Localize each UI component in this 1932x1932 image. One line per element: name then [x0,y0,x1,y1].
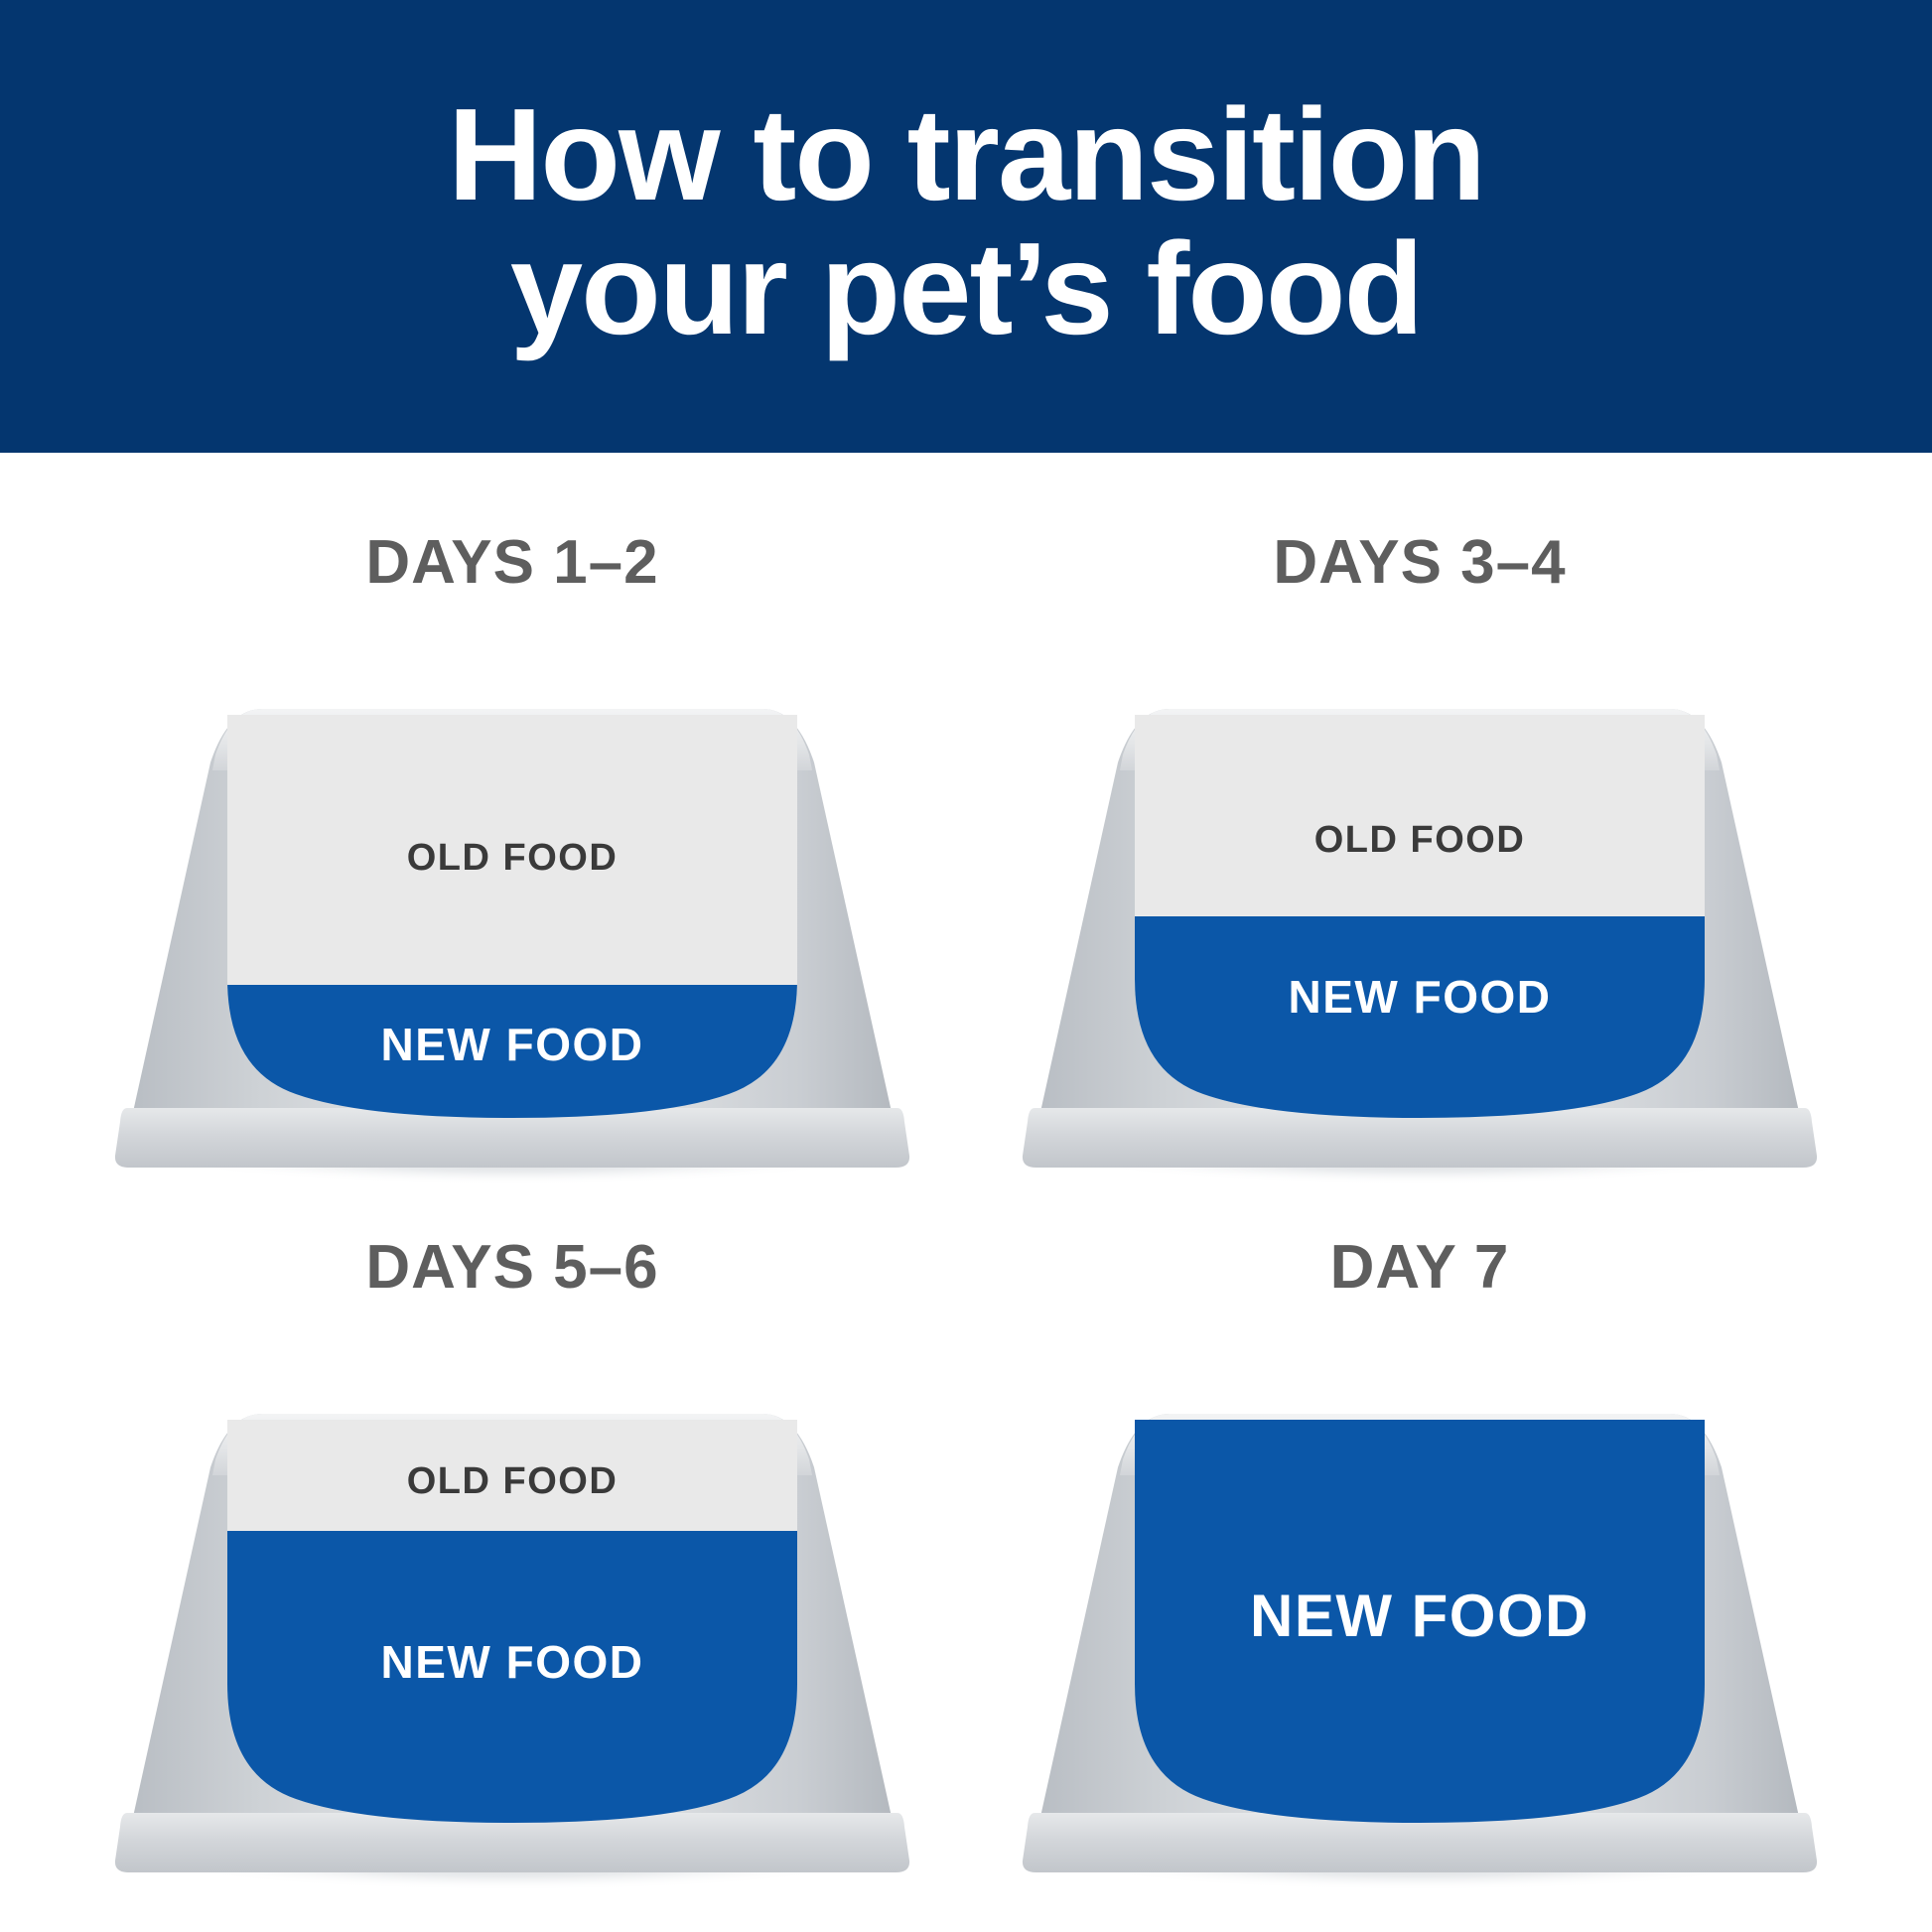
new-food-label: NEW FOOD [381,1019,644,1070]
step-panel-day-7: DAY 7 [993,1237,1847,1932]
new-food-label: NEW FOOD [381,1636,644,1688]
header-banner: How to transition your pet’s food [0,0,1932,453]
old-food-label: OLD FOOD [1314,819,1526,861]
old-food-label: OLD FOOD [407,1460,619,1502]
bowl-illustration-days-5-6: OLD FOOD NEW FOOD [85,1309,939,1924]
step-panel-days-3-4: DAYS 3–4 [993,532,1847,1227]
steps-grid: DAYS 1–2 [0,453,1932,1932]
step-label: DAYS 1–2 [85,532,939,594]
new-food-label: NEW FOOD [1289,971,1552,1023]
bowl-illustration-days-3-4: OLD FOOD NEW FOOD [993,604,1847,1219]
bowl-illustration-day-7: NEW FOOD [993,1309,1847,1924]
old-food-label: OLD FOOD [407,837,619,879]
bowl-illustration-days-1-2: OLD FOOD NEW FOOD [85,604,939,1219]
step-label: DAYS 3–4 [993,532,1847,594]
step-panel-days-5-6: DAYS 5–6 [85,1237,939,1932]
new-food-label: NEW FOOD [1250,1583,1589,1649]
page-title: How to transition your pet’s food [448,88,1484,355]
step-panel-days-1-2: DAYS 1–2 [85,532,939,1227]
step-label: DAY 7 [993,1237,1847,1299]
step-label: DAYS 5–6 [85,1237,939,1299]
